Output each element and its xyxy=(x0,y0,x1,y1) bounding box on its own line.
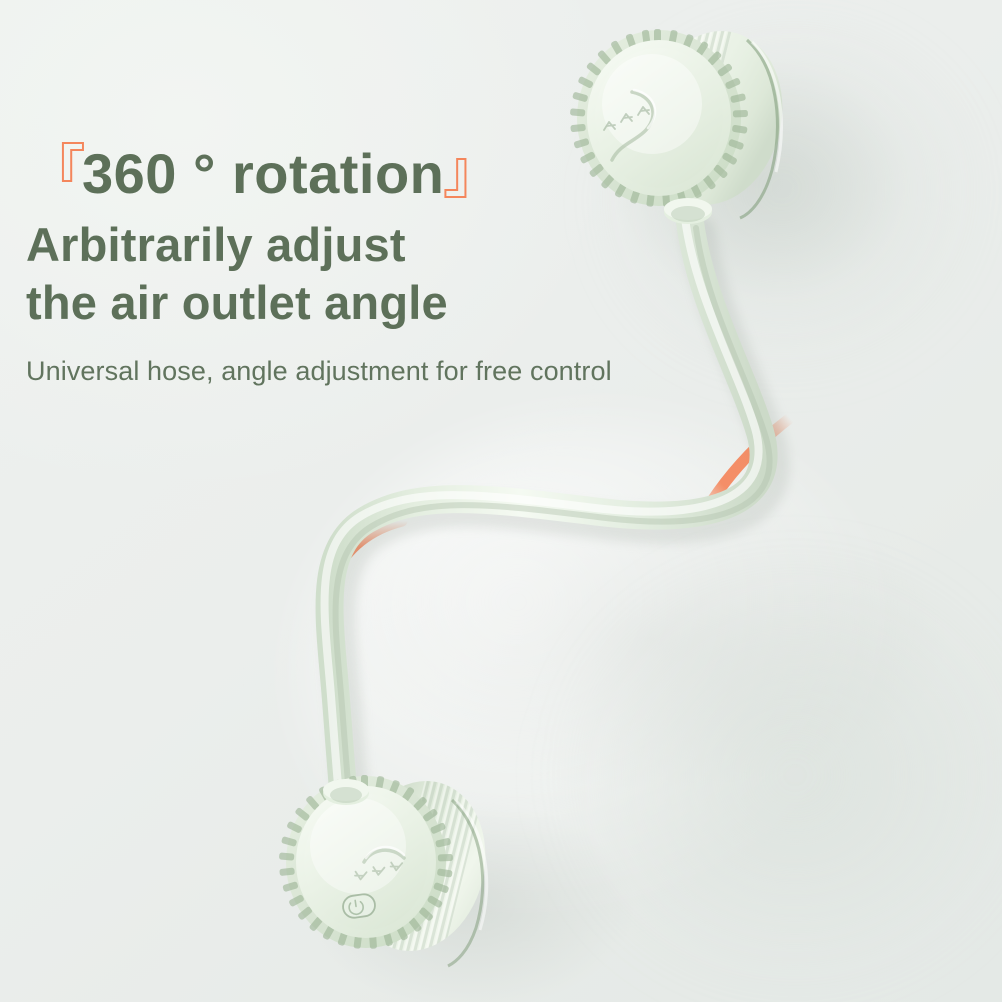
product-poster: 『 360 ° rotation 』 Arbitrarily adjust th… xyxy=(0,0,1002,1002)
corner-bracket-close-icon: 』 xyxy=(442,144,502,202)
corner-bracket-open-icon: 『 xyxy=(26,144,86,202)
headline-row: 『 360 ° rotation 』 xyxy=(26,144,726,210)
headline-text: 360 ° rotation xyxy=(82,144,444,204)
subheadline-line-1: Arbitrarily adjust xyxy=(26,216,726,274)
subheadline-line-2: the air outlet angle xyxy=(26,274,726,332)
marketing-copy: 『 360 ° rotation 』 Arbitrarily adjust th… xyxy=(26,144,726,388)
hose-collar-lower xyxy=(323,779,369,805)
tagline-text: Universal hose, angle adjustment for fre… xyxy=(26,354,726,388)
